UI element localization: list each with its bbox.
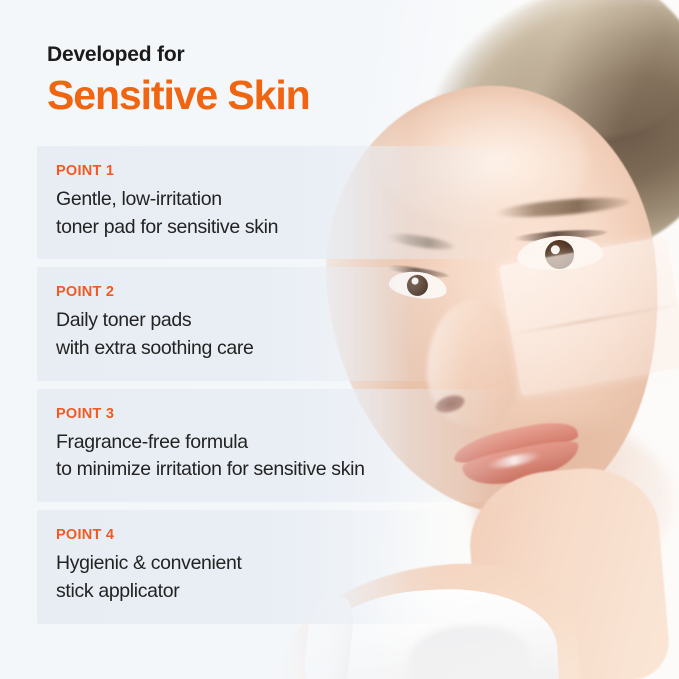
point-text-2-line-1: Daily toner pads	[56, 307, 461, 335]
point-text-2-line-2: with extra soothing care	[56, 335, 461, 363]
point-label-1: POINT 1	[56, 163, 524, 179]
promo-image: Developed for Sensitive Skin POINT 1 Gen…	[0, 0, 679, 679]
point-text-1-line-2: toner pad for sensitive skin	[56, 214, 524, 242]
headline-block: Developed for Sensitive Skin	[47, 42, 527, 119]
point-card-2: POINT 2 Daily toner pads with extra soot…	[37, 267, 461, 380]
point-text-3-line-2: to minimize irritation for sensitive ski…	[56, 456, 524, 484]
point-text-4-line-2: stick applicator	[56, 578, 461, 606]
point-text-1-line-1: Gentle, low-irritation	[56, 186, 524, 214]
content-layer: Developed for Sensitive Skin POINT 1 Gen…	[0, 0, 679, 679]
point-card-3: POINT 3 Fragrance-free formula to minimi…	[37, 389, 524, 502]
point-text-3-line-1: Fragrance-free formula	[56, 429, 524, 457]
points-list: POINT 1 Gentle, low-irritation toner pad…	[37, 146, 647, 632]
point-text-4-line-1: Hygienic & convenient	[56, 550, 461, 578]
point-card-1: POINT 1 Gentle, low-irritation toner pad…	[37, 146, 524, 259]
point-card-4: POINT 4 Hygienic & convenient stick appl…	[37, 510, 461, 623]
point-label-2: POINT 2	[56, 284, 461, 300]
point-label-3: POINT 3	[56, 406, 524, 422]
headline-kicker: Developed for	[47, 42, 527, 67]
point-label-4: POINT 4	[56, 527, 461, 543]
headline-main: Sensitive Skin	[47, 73, 527, 119]
